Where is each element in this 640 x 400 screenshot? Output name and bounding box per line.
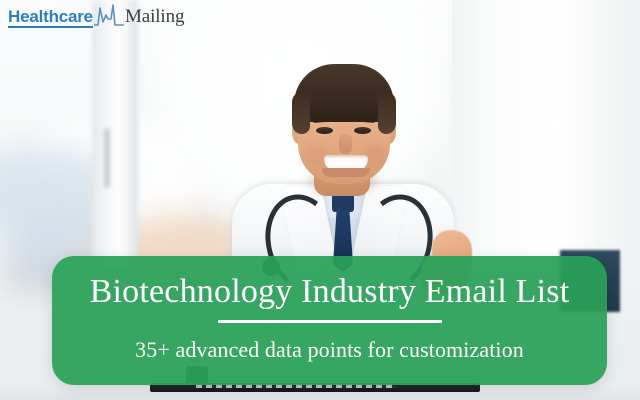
promo-banner-image: Healthcare Mailing Biotechnology Industr… <box>0 0 640 400</box>
promo-banner: Biotechnology Industry Email List 35+ ad… <box>52 256 607 385</box>
necktie-knot <box>332 194 354 212</box>
eye-right <box>354 127 371 134</box>
background-column <box>92 0 138 268</box>
banner-divider <box>218 320 442 323</box>
logo-primary-text: Healthcare <box>8 7 93 28</box>
ecg-heartbeat-icon <box>94 3 124 32</box>
eye-left <box>316 127 333 134</box>
hair-side-left <box>292 92 310 134</box>
logo-secondary-text: Mailing <box>125 7 184 27</box>
banner-subtitle: 35+ advanced data points for customizati… <box>135 337 524 363</box>
brand-logo[interactable]: Healthcare Mailing <box>8 4 184 30</box>
column-handle <box>104 128 110 188</box>
nose <box>339 134 352 154</box>
doctor-figure <box>236 58 450 270</box>
hair-side-right <box>378 92 396 134</box>
banner-title: Biotechnology Industry Email List <box>90 273 570 311</box>
lower-lip <box>322 168 370 177</box>
office-shelving-unit <box>452 0 640 269</box>
